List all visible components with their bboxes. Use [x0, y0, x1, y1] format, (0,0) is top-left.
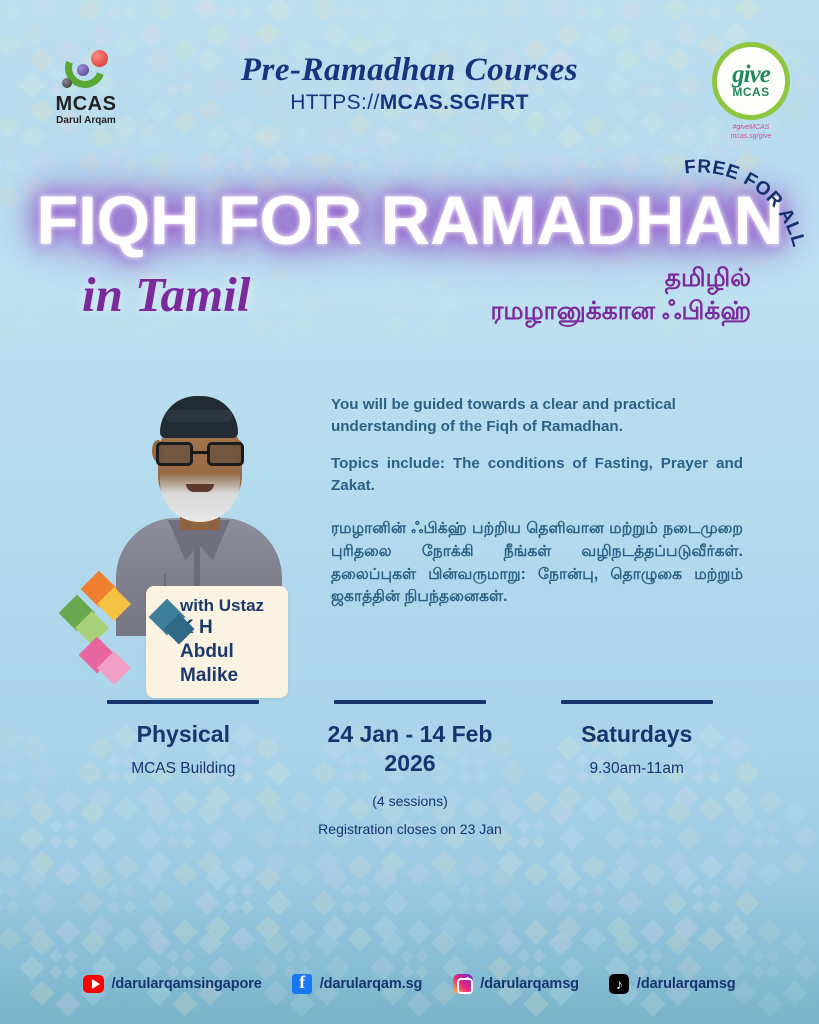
pattern-diamond: [436, 294, 457, 315]
pattern-diamond: [30, 930, 55, 955]
pattern-diamond: [606, 865, 631, 890]
speaker-section: with Ustaz K H Abdul Malike: [108, 388, 288, 633]
pattern-diamond: [133, 117, 154, 138]
pattern-diamond: [240, 147, 261, 168]
pattern-diamond: [21, 865, 46, 890]
pattern-diamond: [734, 0, 759, 22]
pattern-diamond: [357, 159, 371, 173]
pattern-diamond: [18, 273, 39, 294]
give-mcas-logo: give MCAS #giveMCAS mcas.sg/give: [705, 42, 797, 134]
pattern-diamond: [6, 143, 20, 157]
pattern-diamond: [265, 288, 277, 300]
pattern-diamond: [372, 865, 397, 890]
info-subtext: MCAS Building: [80, 759, 287, 779]
pattern-diamond: [782, 930, 807, 955]
pattern-diamond: [548, 930, 573, 955]
pattern-diamond: [314, 850, 339, 875]
free-for-all-text: FREE FOR ALL!: [678, 134, 810, 250]
speaker-name-badge: with Ustaz K H Abdul Malike: [146, 586, 288, 698]
pattern-diamond: [107, 0, 121, 4]
social-link-tiktok[interactable]: /darularqamsg: [609, 973, 736, 994]
divider-rule: [107, 700, 259, 704]
pattern-diamond: [80, 930, 105, 955]
pattern-diamond: [341, 0, 355, 4]
pattern-diamond: [543, 117, 564, 138]
pattern-diamond: [357, 884, 371, 898]
pattern-diamond: [0, 926, 22, 951]
pattern-diamond: [464, 926, 489, 951]
pattern-diamond: [64, 949, 78, 963]
pattern-diamond: [314, 930, 339, 955]
pattern-diamond: [0, 288, 3, 300]
pattern-diamond: [436, 147, 457, 168]
pattern-diamond: [376, 294, 397, 315]
pattern-diamond: [573, 147, 594, 168]
pattern-diamond: [679, 117, 700, 138]
pattern-diamond: [77, 0, 102, 22]
pattern-diamond: [107, 159, 121, 173]
pattern-diamond: [224, 143, 238, 157]
pattern-diamond: [123, 143, 137, 157]
pattern-diamond: [322, 865, 347, 890]
facebook-icon: [292, 973, 313, 994]
speaker-kufi-cap: [160, 396, 238, 438]
pattern-diamond: [21, 785, 46, 810]
pattern-diamond: [782, 850, 807, 875]
pattern-diamond: [341, 900, 355, 914]
pattern-diamond: [21, 21, 46, 46]
tiktok-icon: [609, 973, 630, 994]
pattern-diamond: [381, 930, 406, 955]
pattern-diamond: [0, 142, 3, 154]
pattern-diamond: [427, 126, 448, 147]
pattern-diamond: [0, 114, 22, 139]
pattern-diamond: [545, 150, 570, 175]
pattern-diamond: [698, 854, 723, 879]
pattern-diamond: [278, 142, 290, 154]
pattern-diamond: [0, 0, 4, 4]
pattern-diamond: [575, 143, 589, 157]
pattern-diamond: [194, 150, 219, 175]
pattern-diamond: [32, 150, 57, 175]
pattern-diamond: [523, 861, 548, 886]
pattern-diamond: [49, 835, 63, 849]
pattern-diamond: [513, 147, 534, 168]
pattern-diamond: [311, 150, 336, 175]
pattern-diamond: [224, 884, 238, 898]
pattern-diamond: [372, 21, 397, 46]
pattern-diamond: [489, 915, 514, 940]
pattern-diamond: [692, 6, 706, 20]
pattern-diamond: [458, 0, 472, 4]
pattern-diamond: [270, 324, 291, 345]
pattern-diamond: [458, 143, 472, 157]
pattern-diamond: [88, 915, 113, 940]
pattern-diamond: [581, 854, 606, 879]
give-logo-circle: give MCAS: [712, 42, 790, 120]
pattern-diamond: [107, 900, 121, 914]
pattern-diamond: [107, 6, 121, 20]
pattern-diamond: [88, 124, 113, 149]
pattern-diamond: [662, 890, 687, 915]
pattern-diamond: [6, 900, 20, 914]
pattern-diamond: [230, 926, 255, 951]
speaker-name: K H Abdul Malike: [180, 616, 270, 687]
pattern-diamond: [615, 930, 640, 955]
info-column-schedule: Saturdays 9.30am-11am: [523, 700, 750, 839]
pattern-diamond: [556, 865, 581, 890]
pattern-diamond: [55, 861, 80, 886]
pattern-diamond: [617, 150, 642, 175]
pattern-diamond: [49, 949, 63, 963]
social-link-youtube[interactable]: /darularqamsingapore: [83, 973, 261, 994]
pattern-diamond: [458, 6, 472, 20]
social-handle: /darularqamsingapore: [111, 976, 261, 992]
pattern-diamond: [474, 143, 488, 157]
pattern-diamond: [240, 159, 254, 173]
pattern-diamond: [523, 919, 548, 944]
pattern-diamond: [224, 6, 238, 20]
pattern-diamond: [0, 900, 4, 914]
pattern-diamond: [474, 0, 488, 4]
info-columns: Physical MCAS Building 24 Jan - 14 Feb 2…: [70, 700, 750, 839]
pattern-diamond: [291, 126, 312, 147]
pattern-diamond: [617, 0, 642, 22]
pattern-diamond: [575, 6, 589, 20]
pattern-diamond: [19, 825, 44, 850]
pattern-diamond: [138, 124, 163, 149]
info-sessions: (4 sessions): [307, 792, 514, 811]
pattern-diamond: [123, 6, 137, 20]
pattern-diamond: [401, 142, 413, 154]
pattern-diamond: [205, 865, 230, 890]
pattern-diamond: [88, 865, 113, 890]
pattern-diamond: [255, 124, 280, 149]
pattern-diamond: [751, 949, 765, 963]
pattern-diamond: [265, 142, 277, 154]
pattern-diamond: [522, 126, 543, 147]
pattern-diamond: [278, 302, 290, 314]
pattern-diamond: [692, 900, 706, 914]
pattern-diamond: [606, 915, 631, 940]
pattern-diamond: [138, 21, 163, 46]
pattern-diamond: [123, 159, 137, 173]
pattern-diamond: [249, 273, 270, 294]
pattern-diamond: [32, 0, 57, 22]
pattern-diamond: [240, 884, 254, 898]
pattern-diamond: [128, 155, 140, 167]
pattern-diamond: [300, 147, 321, 168]
pattern-diamond: [347, 854, 372, 879]
registration-url[interactable]: HTTPS://MCAS.SG/FRT: [0, 91, 819, 115]
pattern-diamond: [532, 949, 546, 963]
pattern-diamond: [0, 159, 4, 173]
pattern-diamond: [431, 850, 456, 875]
pattern-diamond: [766, 835, 780, 849]
pattern-diamond: [249, 126, 270, 147]
pattern-diamond: [793, 825, 818, 850]
pattern-diamond: [766, 819, 780, 833]
pattern-diamond: [474, 6, 488, 20]
pattern-diamond: [0, 796, 22, 821]
pattern-diamond: [311, 890, 336, 915]
pattern-diamond: [27, 147, 48, 168]
pattern-diamond: [591, 6, 605, 20]
pattern-diamond: [291, 273, 312, 294]
pattern-diamond: [538, 142, 550, 154]
pattern-diamond: [194, 0, 219, 22]
pattern-diamond: [606, 21, 631, 46]
pattern-diamond: [474, 900, 488, 914]
pattern-diamond: [278, 155, 290, 167]
pattern-diamond: [147, 850, 172, 875]
pattern-diamond: [551, 155, 563, 167]
pattern-diamond: [55, 919, 80, 944]
pattern-diamond: [489, 21, 514, 46]
pattern-diamond: [406, 264, 427, 285]
pattern-diamond: [5, 155, 17, 167]
pattern-diamond: [147, 930, 172, 955]
pattern-diamond: [357, 900, 371, 914]
pattern-diamond: [194, 890, 219, 915]
pattern-diamond: [141, 142, 153, 154]
social-link-instagram[interactable]: /darularqamsg: [452, 973, 579, 994]
pattern-diamond: [0, 724, 22, 749]
pattern-diamond: [0, 117, 18, 138]
pattern-diamond: [0, 6, 4, 20]
pattern-diamond: [224, 900, 238, 914]
pattern-diamond: [6, 6, 20, 20]
pattern-diamond: [708, 900, 722, 914]
pattern-diamond: [649, 147, 670, 168]
pattern-diamond: [692, 0, 706, 4]
glasses-lens-right: [207, 442, 244, 466]
description-block: You will be guided towards a clear and p…: [331, 394, 743, 625]
pattern-diamond: [617, 890, 642, 915]
pattern-diamond: [439, 865, 464, 890]
speaker-beard: [160, 474, 240, 522]
url-path: MCAS.SG/FRT: [380, 91, 529, 114]
pattern-diamond: [21, 735, 46, 760]
give-logo-word: give: [732, 64, 770, 87]
pattern-diamond: [154, 126, 175, 147]
pattern-diamond: [224, 0, 238, 4]
pattern-diamond: [428, 150, 453, 175]
pattern-diamond: [556, 21, 581, 46]
pattern-diamond: [49, 819, 63, 833]
pattern-diamond: [439, 124, 464, 149]
pattern-diamond: [138, 915, 163, 940]
youtube-icon: [83, 973, 104, 994]
pattern-diamond: [266, 0, 291, 22]
pattern-diamond: [698, 926, 723, 951]
speaker-glasses-icon: [156, 442, 244, 466]
pattern-diamond: [732, 850, 757, 875]
pattern-diamond: [80, 850, 105, 875]
pattern-diamond: [6, 754, 20, 768]
give-logo-mcas: MCAS: [732, 86, 769, 98]
pattern-diamond: [21, 915, 46, 940]
pattern-diamond: [406, 919, 431, 944]
info-registration-close: Registration closes on 23 Jan: [307, 820, 514, 839]
pattern-diamond: [0, 854, 22, 879]
pattern-diamond: [347, 926, 372, 951]
pattern-diamond: [6, 884, 20, 898]
pattern-diamond: [322, 915, 347, 940]
pattern-diamond: [723, 915, 748, 940]
pattern-diamond: [406, 991, 431, 1016]
pattern-diamond: [249, 315, 270, 336]
pattern-diamond: [205, 21, 230, 46]
pattern-diamond: [545, 0, 570, 22]
pattern-diamond: [581, 114, 606, 139]
instagram-icon: [452, 973, 473, 994]
give-logo-tagline: #giveMCAS mcas.sg/give: [705, 124, 797, 142]
pattern-diamond: [298, 949, 312, 963]
pre-ramadhan-courses-title: Pre-Ramadhan Courses: [0, 52, 819, 89]
pattern-diamond: [474, 884, 488, 898]
info-heading: 24 Jan - 14 Feb 2026: [307, 720, 514, 778]
pattern-diamond: [665, 850, 690, 875]
pattern-diamond: [224, 159, 238, 173]
pattern-diamond: [673, 21, 698, 46]
pattern-diamond: [181, 949, 195, 963]
pattern-diamond: [556, 915, 581, 940]
pattern-diamond: [5, 302, 17, 314]
pattern-diamond: [606, 124, 631, 149]
pattern-diamond: [385, 126, 406, 147]
pattern-diamond: [474, 159, 488, 173]
title-tamil-line2: ரமழானுக்கான ஃபிக்ஹ்: [491, 295, 752, 328]
pattern-diamond: [133, 324, 154, 345]
description-paragraph-2: Topics include: The conditions of Fastin…: [331, 453, 743, 496]
pattern-diamond: [255, 865, 280, 890]
pattern-diamond: [381, 850, 406, 875]
pattern-diamond: [172, 919, 197, 944]
pattern-diamond: [757, 991, 782, 1016]
pattern-diamond: [383, 150, 408, 175]
pattern-diamond: [489, 124, 514, 149]
pattern-diamond: [640, 991, 665, 1016]
pattern-diamond: [591, 143, 605, 157]
social-link-facebook[interactable]: /darularqam.sg: [292, 973, 423, 994]
pattern-diamond: [385, 273, 406, 294]
pattern-diamond: [197, 850, 222, 875]
pattern-diamond: [427, 315, 448, 336]
pattern-diamond: [341, 6, 355, 20]
pattern-diamond: [428, 0, 453, 22]
pattern-diamond: [300, 294, 321, 315]
pattern-diamond: [264, 850, 289, 875]
pattern-diamond: [734, 890, 759, 915]
title-tamil-line1: தமிழில்: [491, 262, 752, 295]
pattern-diamond: [341, 159, 355, 173]
pattern-diamond: [0, 155, 3, 167]
social-handle: /darularqam.sg: [320, 976, 423, 992]
pattern-diamond: [564, 126, 585, 147]
pattern-diamond: [166, 949, 180, 963]
pattern-diamond: [500, 0, 525, 22]
pattern-diamond: [347, 114, 372, 139]
pattern-diamond: [270, 117, 291, 138]
pattern-diamond: [634, 949, 648, 963]
pattern-diamond: [270, 264, 291, 285]
pattern-diamond: [673, 915, 698, 940]
pattern-diamond: [265, 302, 277, 314]
pattern-diamond: [757, 919, 782, 944]
social-handle: /darularqamsg: [480, 976, 579, 992]
pattern-diamond: [591, 900, 605, 914]
pattern-diamond: [149, 150, 174, 175]
pattern-diamond: [658, 126, 679, 147]
pattern-diamond: [30, 800, 55, 825]
pattern-diamond: [266, 150, 291, 175]
pattern-diamond: [575, 0, 589, 4]
pattern-diamond: [0, 324, 18, 345]
glasses-bridge: [193, 451, 207, 454]
pattern-diamond: [21, 124, 46, 149]
pattern-diamond: [548, 850, 573, 875]
info-subtext: 9.30am-11am: [533, 759, 740, 779]
pattern-diamond: [32, 890, 57, 915]
pattern-diamond: [322, 21, 347, 46]
pattern-diamond: [414, 288, 426, 300]
pattern-diamond: [357, 0, 371, 4]
pattern-diamond: [575, 884, 589, 898]
pattern-diamond: [283, 949, 297, 963]
pattern-diamond: [55, 991, 80, 1016]
pattern-diamond: [163, 147, 184, 168]
description-paragraph-1: You will be guided towards a clear and p…: [331, 394, 743, 437]
pattern-diamond: [0, 884, 4, 898]
pattern-diamond: [240, 6, 254, 20]
pattern-diamond: [766, 949, 780, 963]
pattern-diamond: [149, 890, 174, 915]
pattern-diamond: [575, 900, 589, 914]
pattern-diamond: [372, 124, 397, 149]
pattern-diamond: [230, 114, 255, 139]
pattern-diamond: [757, 861, 782, 886]
pattern-diamond: [458, 884, 472, 898]
pattern-diamond: [30, 850, 55, 875]
pattern-diamond: [385, 315, 406, 336]
pattern-diamond: [6, 770, 20, 784]
pattern-diamond: [357, 6, 371, 20]
pattern-diamond: [464, 854, 489, 879]
poster-canvas: MCAS Darul Arqam Pre-Ramadhan Courses HT…: [0, 0, 819, 1024]
pattern-diamond: [18, 315, 39, 336]
pattern-diamond: [205, 915, 230, 940]
pattern-diamond: [406, 861, 431, 886]
pattern-diamond: [376, 147, 397, 168]
glasses-lens-left: [156, 442, 193, 466]
pattern-diamond: [6, 0, 20, 4]
pattern-diamond: [230, 854, 255, 879]
title-tamil-block: தமிழில் ரமழானுக்கான ஃபிக்ஹ்: [491, 262, 752, 327]
pattern-diamond: [581, 926, 606, 951]
pattern-diamond: [545, 890, 570, 915]
pattern-diamond: [205, 124, 230, 149]
pattern-diamond: [113, 926, 138, 951]
pattern-diamond: [498, 930, 523, 955]
pattern-diamond: [123, 900, 137, 914]
pattern-diamond: [149, 0, 174, 22]
pattern-diamond: [498, 850, 523, 875]
info-heading: Saturdays: [533, 720, 740, 749]
pattern-diamond: [692, 884, 706, 898]
pattern-diamond: [615, 850, 640, 875]
pattern-diamond: [113, 854, 138, 879]
